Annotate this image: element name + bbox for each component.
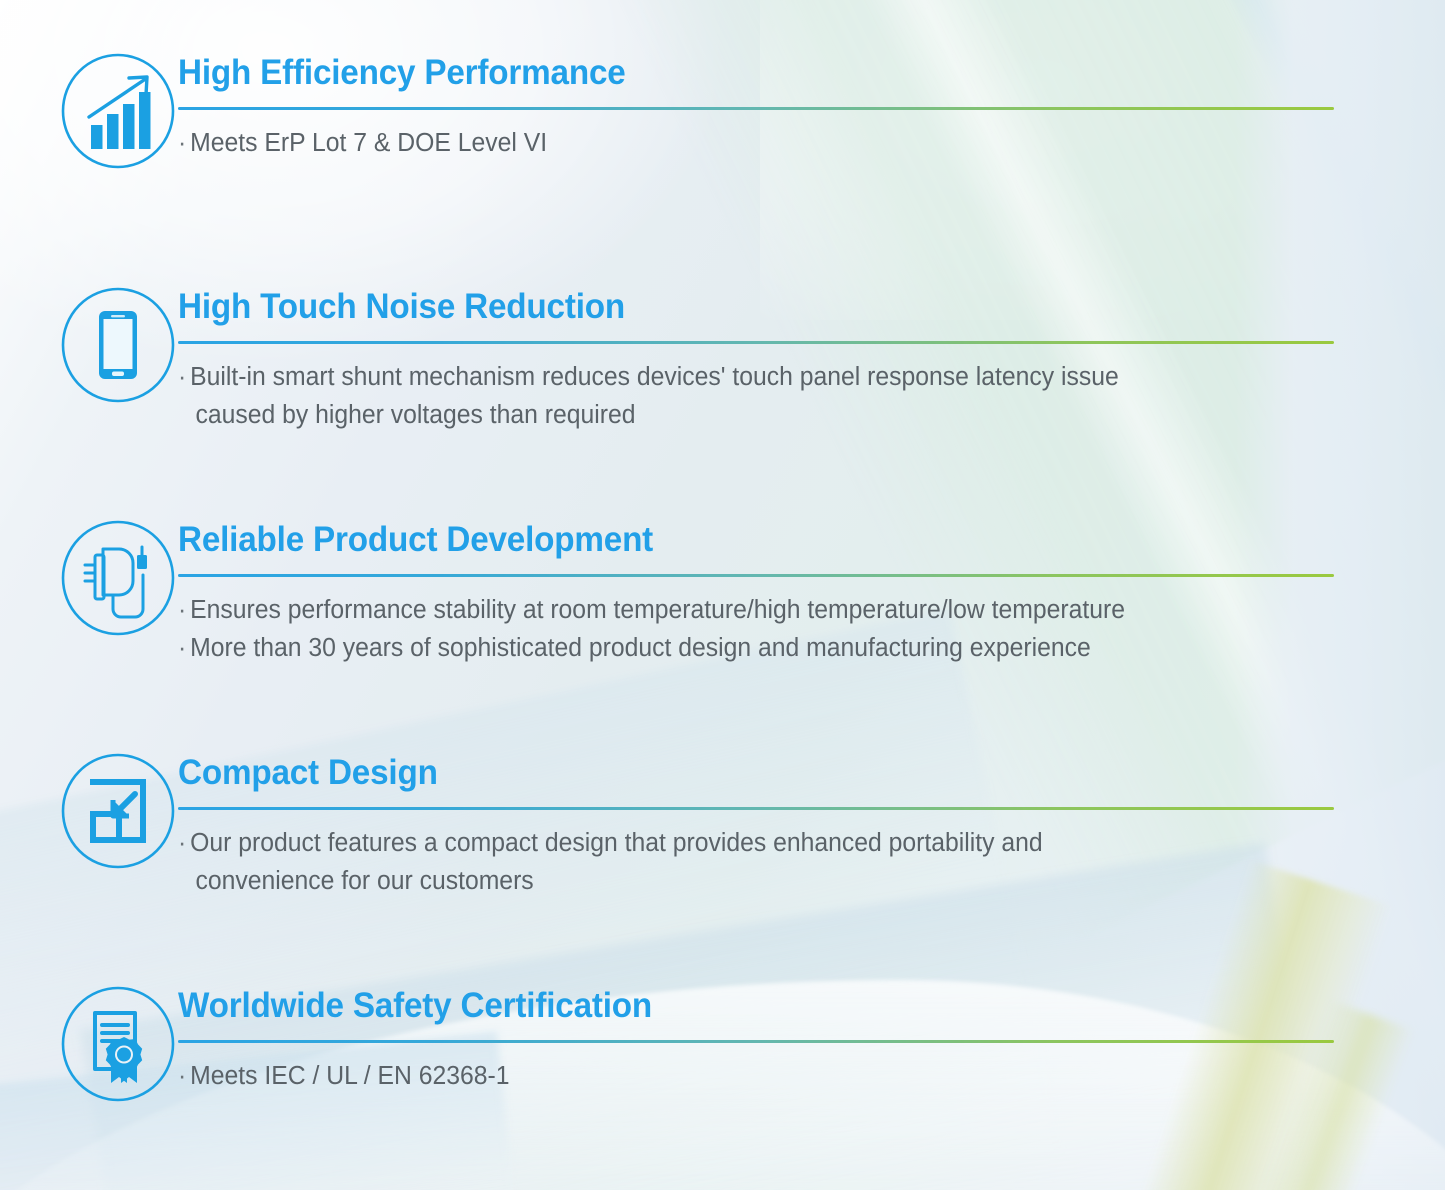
feature-divider bbox=[178, 574, 1334, 577]
bullet-dot: · bbox=[178, 363, 190, 391]
bullet-dot: · bbox=[178, 829, 190, 857]
bullet-text: Meets IEC / UL / EN 62368-1 bbox=[190, 1062, 509, 1090]
feature-icon-slot bbox=[52, 985, 178, 1103]
bullet-line: caused by higher voltages than required bbox=[178, 396, 1299, 434]
feature-bullets: ·Our product features a compact design t… bbox=[178, 824, 1299, 900]
feature-item-compact-design: Compact Design ·Our product features a c… bbox=[52, 752, 1334, 900]
feature-title: High Touch Noise Reduction bbox=[178, 286, 1276, 328]
feature-title: High Efficiency Performance bbox=[178, 52, 1276, 94]
feature-bullets: ·Ensures performance stability at room t… bbox=[178, 591, 1299, 667]
feature-item-high-efficiency-performance: High Efficiency Performance ·Meets ErP L… bbox=[52, 52, 1334, 170]
feature-bullets: ·Meets IEC / UL / EN 62368-1 bbox=[178, 1057, 1299, 1095]
compact-resize-icon bbox=[59, 752, 177, 870]
feature-title: Worldwide Safety Certification bbox=[178, 985, 1276, 1027]
feature-bullets: ·Meets ErP Lot 7 & DOE Level VI bbox=[178, 124, 1299, 162]
feature-divider bbox=[178, 341, 1334, 344]
feature-text-block: Compact Design ·Our product features a c… bbox=[178, 752, 1334, 900]
bullet-text: convenience for our customers bbox=[195, 867, 533, 895]
feature-item-high-touch-noise-reduction: High Touch Noise Reduction ·Built-in sma… bbox=[52, 286, 1334, 434]
feature-divider bbox=[178, 107, 1334, 110]
bullet-dot: · bbox=[178, 596, 190, 624]
feature-icon-slot bbox=[52, 286, 178, 404]
feature-text-block: Reliable Product Development ·Ensures pe… bbox=[178, 519, 1334, 667]
feature-divider bbox=[178, 807, 1334, 810]
feature-item-reliable-product-development: Reliable Product Development ·Ensures pe… bbox=[52, 519, 1334, 667]
bullet-line: ·More than 30 years of sophisticated pro… bbox=[178, 629, 1299, 667]
bullet-line: ·Meets IEC / UL / EN 62368-1 bbox=[178, 1057, 1299, 1095]
bullet-line: ·Meets ErP Lot 7 & DOE Level VI bbox=[178, 124, 1299, 162]
feature-divider bbox=[178, 1040, 1334, 1043]
feature-text-block: High Efficiency Performance ·Meets ErP L… bbox=[178, 52, 1334, 162]
feature-title: Reliable Product Development bbox=[178, 519, 1276, 561]
bullet-line: ·Built-in smart shunt mechanism reduces … bbox=[178, 358, 1299, 396]
bullet-text: Our product features a compact design th… bbox=[190, 829, 1043, 857]
feature-item-worldwide-safety-certification: Worldwide Safety Certification ·Meets IE… bbox=[52, 985, 1334, 1103]
feature-text-block: High Touch Noise Reduction ·Built-in sma… bbox=[178, 286, 1334, 434]
power-adapter-icon bbox=[59, 519, 177, 637]
bullet-dot: · bbox=[178, 634, 190, 662]
certificate-award-icon bbox=[59, 985, 177, 1103]
feature-title: Compact Design bbox=[178, 752, 1276, 794]
feature-icon-slot bbox=[52, 752, 178, 870]
bullet-text: Built-in smart shunt mechanism reduces d… bbox=[190, 363, 1119, 391]
bar-chart-growth-icon bbox=[59, 52, 177, 170]
feature-icon-slot bbox=[52, 52, 178, 170]
bullet-dot: · bbox=[178, 129, 190, 157]
bullet-line: convenience for our customers bbox=[178, 862, 1299, 900]
feature-text-block: Worldwide Safety Certification ·Meets IE… bbox=[178, 985, 1334, 1095]
bullet-text: Ensures performance stability at room te… bbox=[190, 596, 1125, 624]
feature-list-sheet: High Efficiency Performance ·Meets ErP L… bbox=[0, 0, 1445, 1190]
bullet-text: caused by higher voltages than required bbox=[195, 401, 635, 429]
bullet-dot: · bbox=[178, 1062, 190, 1090]
feature-bullets: ·Built-in smart shunt mechanism reduces … bbox=[178, 358, 1299, 434]
bullet-text: More than 30 years of sophisticated prod… bbox=[190, 634, 1091, 662]
feature-icon-slot bbox=[52, 519, 178, 637]
bullet-line: ·Our product features a compact design t… bbox=[178, 824, 1299, 862]
bullet-text: Meets ErP Lot 7 & DOE Level VI bbox=[190, 129, 547, 157]
bullet-line: ·Ensures performance stability at room t… bbox=[178, 591, 1299, 629]
smartphone-icon bbox=[59, 286, 177, 404]
